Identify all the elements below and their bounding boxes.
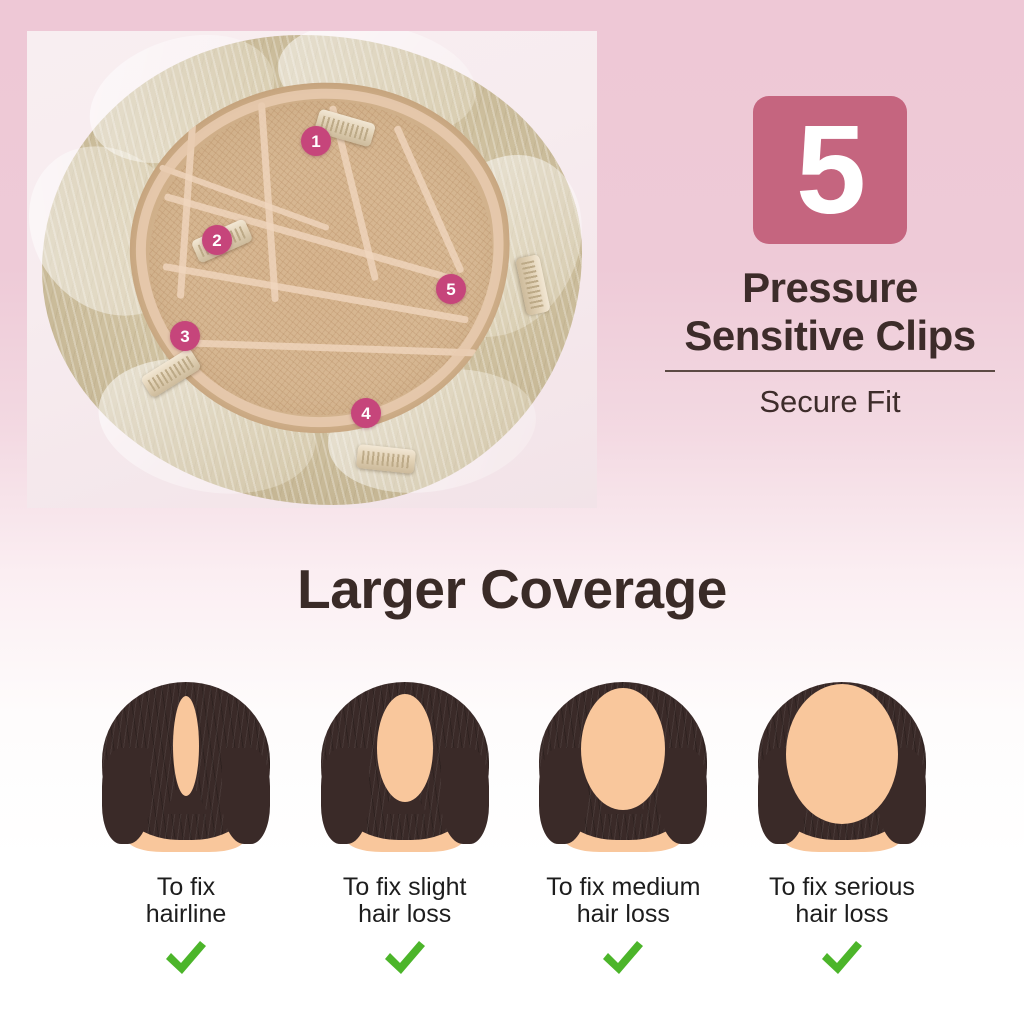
coverage-card-list: To fix hairline To fix slight hair loss xyxy=(86,674,942,978)
clips-title: Pressure Sensitive Clips xyxy=(650,264,1010,360)
clips-title-line2: Sensitive Clips xyxy=(650,312,1010,360)
hair-side-left xyxy=(539,748,587,844)
checkmark-icon xyxy=(86,938,286,978)
head-illustration xyxy=(305,674,505,864)
hair-side-right xyxy=(659,748,707,844)
coverage-card-serious: To fix serious hair loss xyxy=(742,674,942,978)
coverage-card-medium: To fix medium hair loss xyxy=(523,674,723,978)
card-caption: To fix medium hair loss xyxy=(523,874,723,928)
page-title: Larger Coverage xyxy=(0,557,1024,621)
divider xyxy=(665,370,995,372)
coverage-card-slight: To fix slight hair loss xyxy=(305,674,505,978)
hair-side-left xyxy=(321,748,369,844)
infographic-page: 1 2 3 4 5 5 Pressure Sensitive Clips Sec… xyxy=(0,0,1024,1024)
product-photo: 1 2 3 4 5 xyxy=(27,31,597,508)
clips-count-badge: 5 xyxy=(753,96,907,244)
hair-loss-area xyxy=(581,688,665,810)
clip-badge-2: 2 xyxy=(202,225,232,255)
head-illustration xyxy=(523,674,723,864)
clip-badge-5: 5 xyxy=(436,274,466,304)
head-illustration xyxy=(86,674,286,864)
clips-panel: 5 Pressure Sensitive Clips Secure Fit xyxy=(650,96,1010,420)
clip-badge-1: 1 xyxy=(301,126,331,156)
clips-subtitle: Secure Fit xyxy=(650,384,1010,420)
hair-loss-area xyxy=(377,694,433,802)
clip-badge-4: 4 xyxy=(351,398,381,428)
card-caption: To fix serious hair loss xyxy=(742,874,942,928)
card-caption: To fix hairline xyxy=(86,874,286,928)
hair-loss-area xyxy=(173,696,199,796)
checkmark-icon xyxy=(742,938,942,978)
coverage-card-hairline: To fix hairline xyxy=(86,674,286,978)
hair-side-right xyxy=(222,748,270,844)
hair-loss-area xyxy=(786,684,898,824)
clips-title-line1: Pressure xyxy=(650,264,1010,312)
hair-side-left xyxy=(102,748,150,844)
card-caption: To fix slight hair loss xyxy=(305,874,505,928)
clip-badge-3: 3 xyxy=(170,321,200,351)
checkmark-icon xyxy=(523,938,723,978)
checkmark-icon xyxy=(305,938,505,978)
hair-side-right xyxy=(441,748,489,844)
head-illustration xyxy=(742,674,942,864)
